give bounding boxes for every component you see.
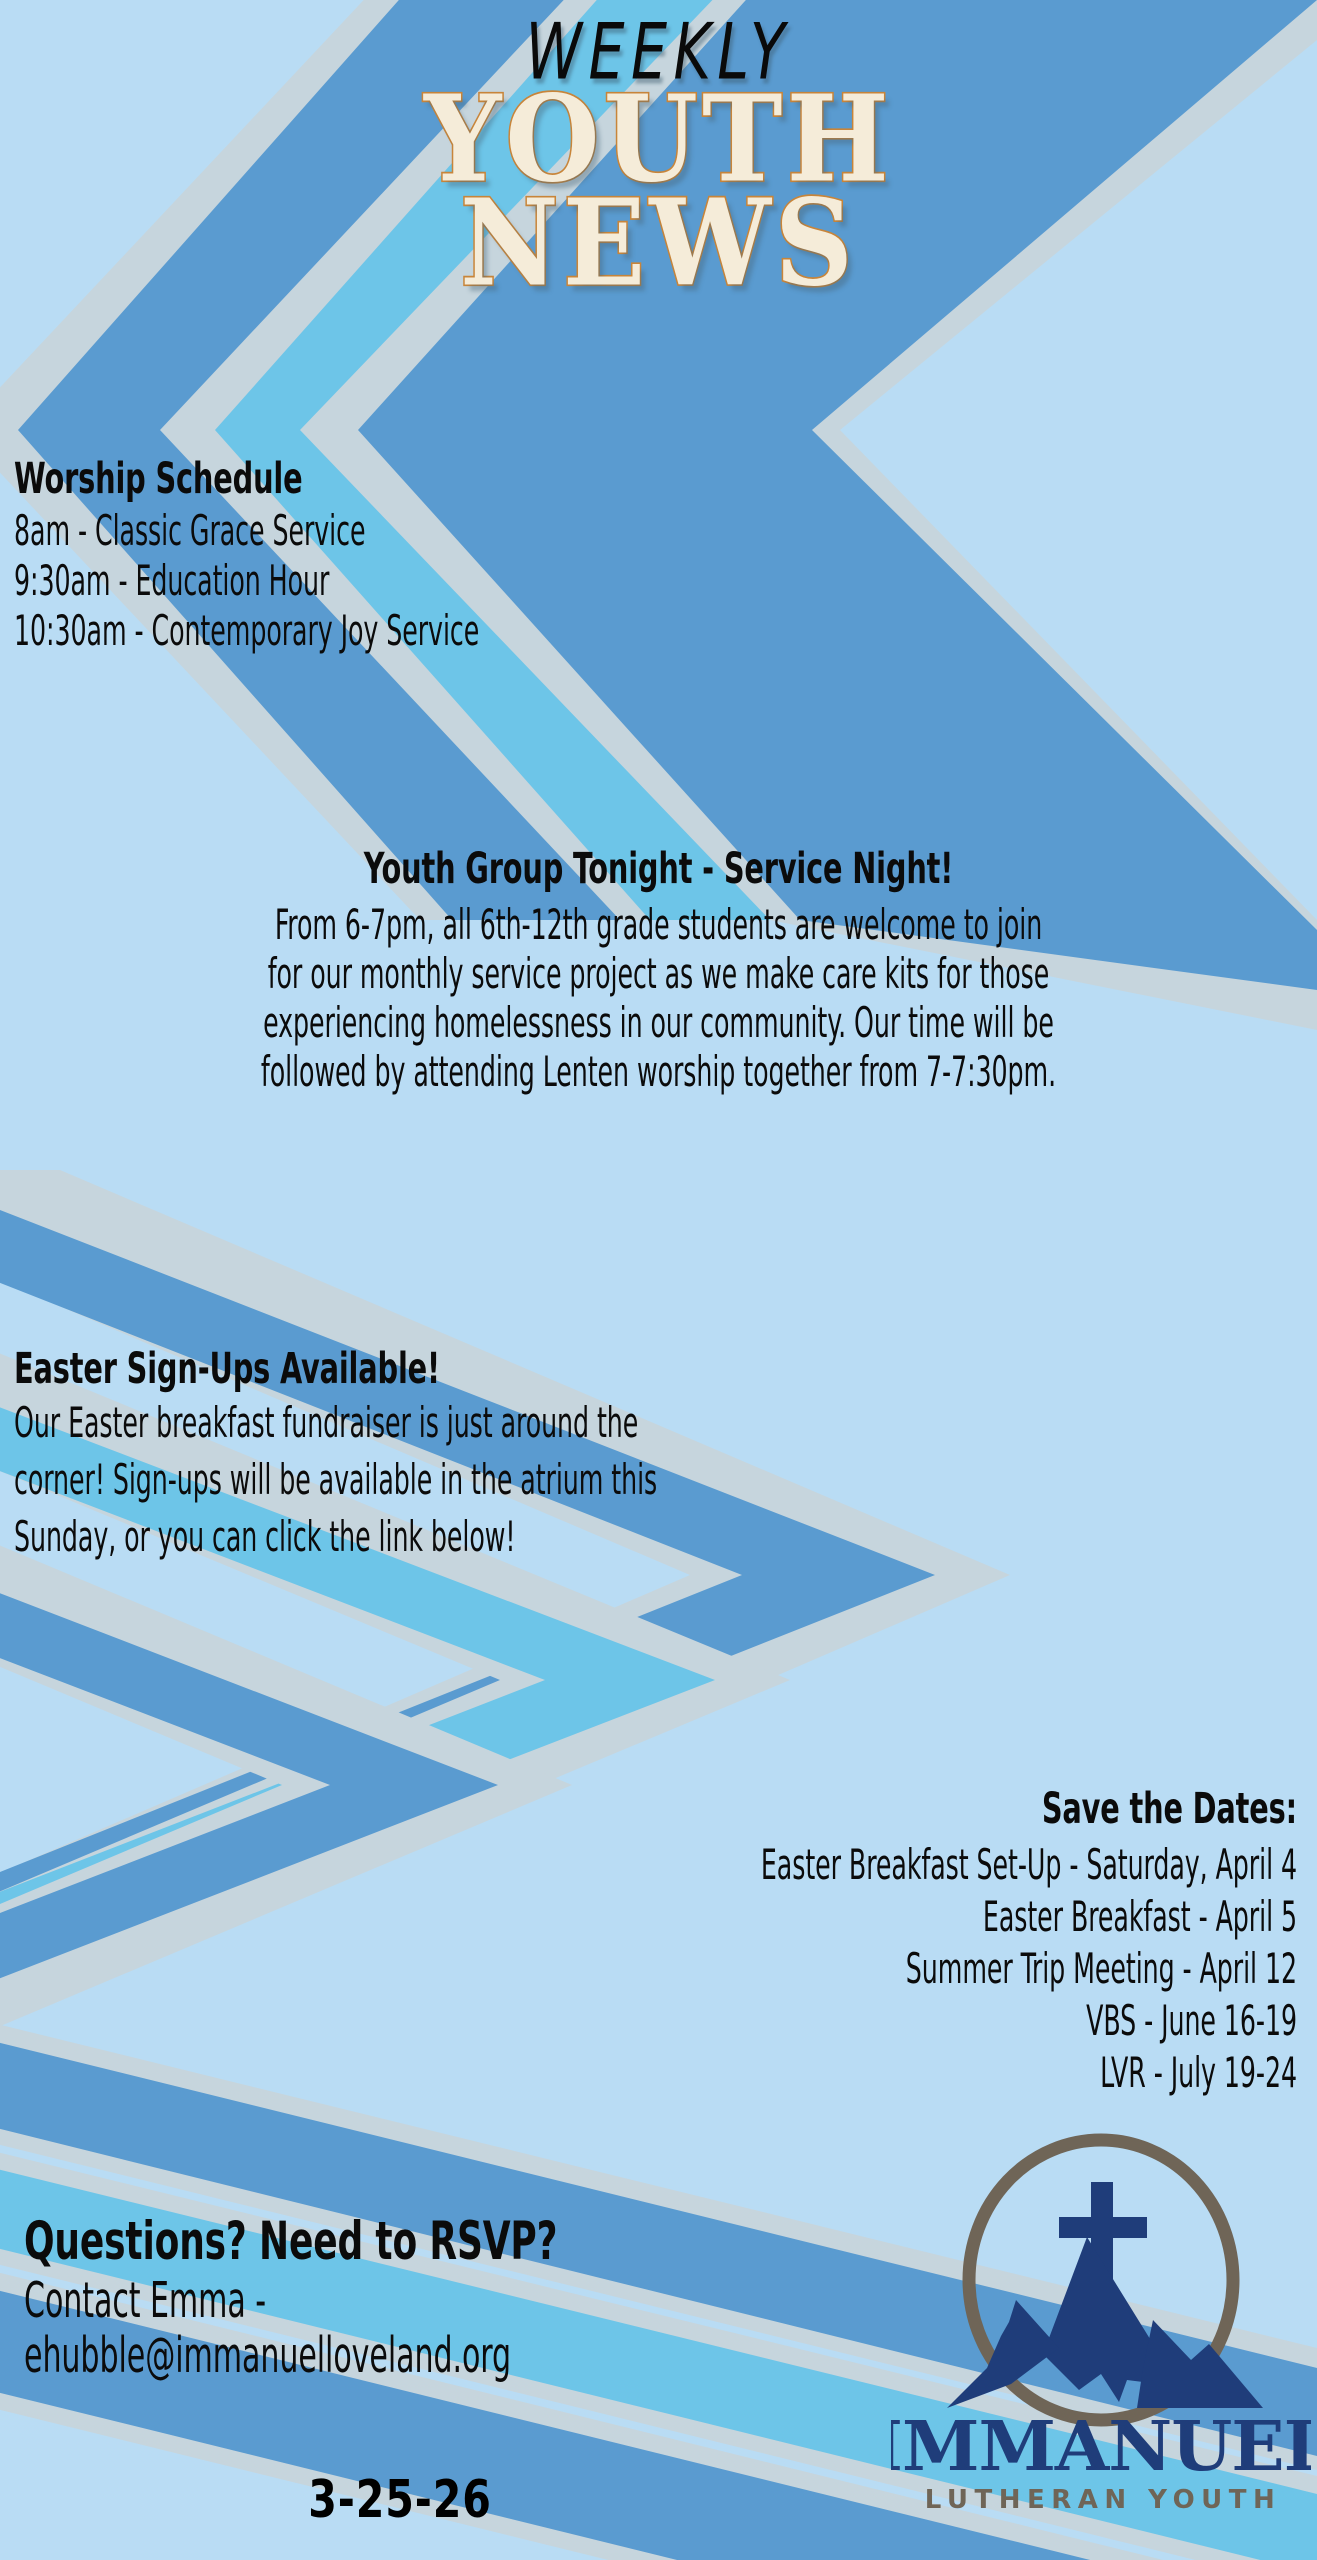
save-the-dates-section: Save the Dates: Easter Breakfast Set-Up … bbox=[197, 1785, 1297, 2101]
youth-group-line-4: followed by attending Lenten worship tog… bbox=[173, 1048, 1144, 1096]
worship-schedule-section: Worship Schedule 8am - Classic Grace Ser… bbox=[14, 455, 1014, 657]
worship-line-3: 10:30am - Contemporary Joy Service bbox=[14, 607, 774, 655]
contact-section: Questions? Need to RSVP? Contact Emma - … bbox=[24, 2210, 1024, 2382]
easter-line-1: Our Easter breakfast fundraiser is just … bbox=[14, 1399, 774, 1447]
easter-line-3: Sunday, or you can click the link below! bbox=[14, 1513, 774, 1561]
youth-group-line-3: experiencing homelessness in our communi… bbox=[173, 999, 1144, 1047]
save-the-dates-item-3: Summer Trip Meeting - April 12 bbox=[461, 1945, 1297, 1993]
youth-group-heading: Youth Group Tonight - Service Night! bbox=[148, 845, 1170, 894]
save-the-dates-heading: Save the Dates: bbox=[417, 1785, 1297, 1834]
contact-heading: Questions? Need to RSVP? bbox=[24, 2210, 824, 2271]
immanuel-lutheran-youth-logo: IMMANUEL LUTHERAN YOUTH bbox=[891, 2122, 1311, 2522]
poster-content: WEEKLY YOUTH NEWS Worship Schedule 8am -… bbox=[0, 0, 1317, 2560]
youth-group-line-1: From 6-7pm, all 6th-12th grade students … bbox=[173, 901, 1144, 949]
logo-wordmark: IMMANUEL bbox=[891, 2407, 1311, 2487]
easter-signups-section: Easter Sign-Ups Available! Our Easter br… bbox=[14, 1345, 1014, 1570]
youth-group-line-2: for our monthly service project as we ma… bbox=[173, 950, 1144, 998]
save-the-dates-item-1: Easter Breakfast Set-Up - Saturday, Apri… bbox=[461, 1841, 1297, 1889]
weekly-youth-news-poster: WEEKLY YOUTH NEWS Worship Schedule 8am -… bbox=[0, 0, 1317, 2560]
save-the-dates-item-2: Easter Breakfast - April 5 bbox=[461, 1893, 1297, 1941]
logo-tagline: LUTHERAN YOUTH bbox=[925, 2485, 1282, 2515]
easter-signups-heading: Easter Sign-Ups Available! bbox=[14, 1345, 814, 1394]
logo-svg: IMMANUEL LUTHERAN YOUTH bbox=[891, 2122, 1311, 2522]
save-the-dates-item-4: VBS - June 16-19 bbox=[461, 1997, 1297, 2045]
contact-email[interactable]: ehubble@immanuelloveland.org bbox=[24, 2327, 784, 2384]
page-title: YOUTH NEWS bbox=[0, 90, 1317, 291]
worship-line-1: 8am - Classic Grace Service bbox=[14, 507, 774, 555]
save-the-dates-item-5: LVR - July 19-24 bbox=[461, 2049, 1297, 2097]
contact-name-line: Contact Emma - bbox=[24, 2272, 784, 2329]
worship-line-2: 9:30am - Education Hour bbox=[14, 557, 774, 605]
easter-line-2: corner! Sign-ups will be available in th… bbox=[14, 1456, 774, 1504]
youth-group-section: Youth Group Tonight - Service Night! Fro… bbox=[20, 845, 1297, 1097]
worship-schedule-heading: Worship Schedule bbox=[14, 455, 814, 504]
title-line-news: NEWS bbox=[0, 188, 1317, 297]
issue-date: 3-25-26 bbox=[48, 2470, 752, 2530]
